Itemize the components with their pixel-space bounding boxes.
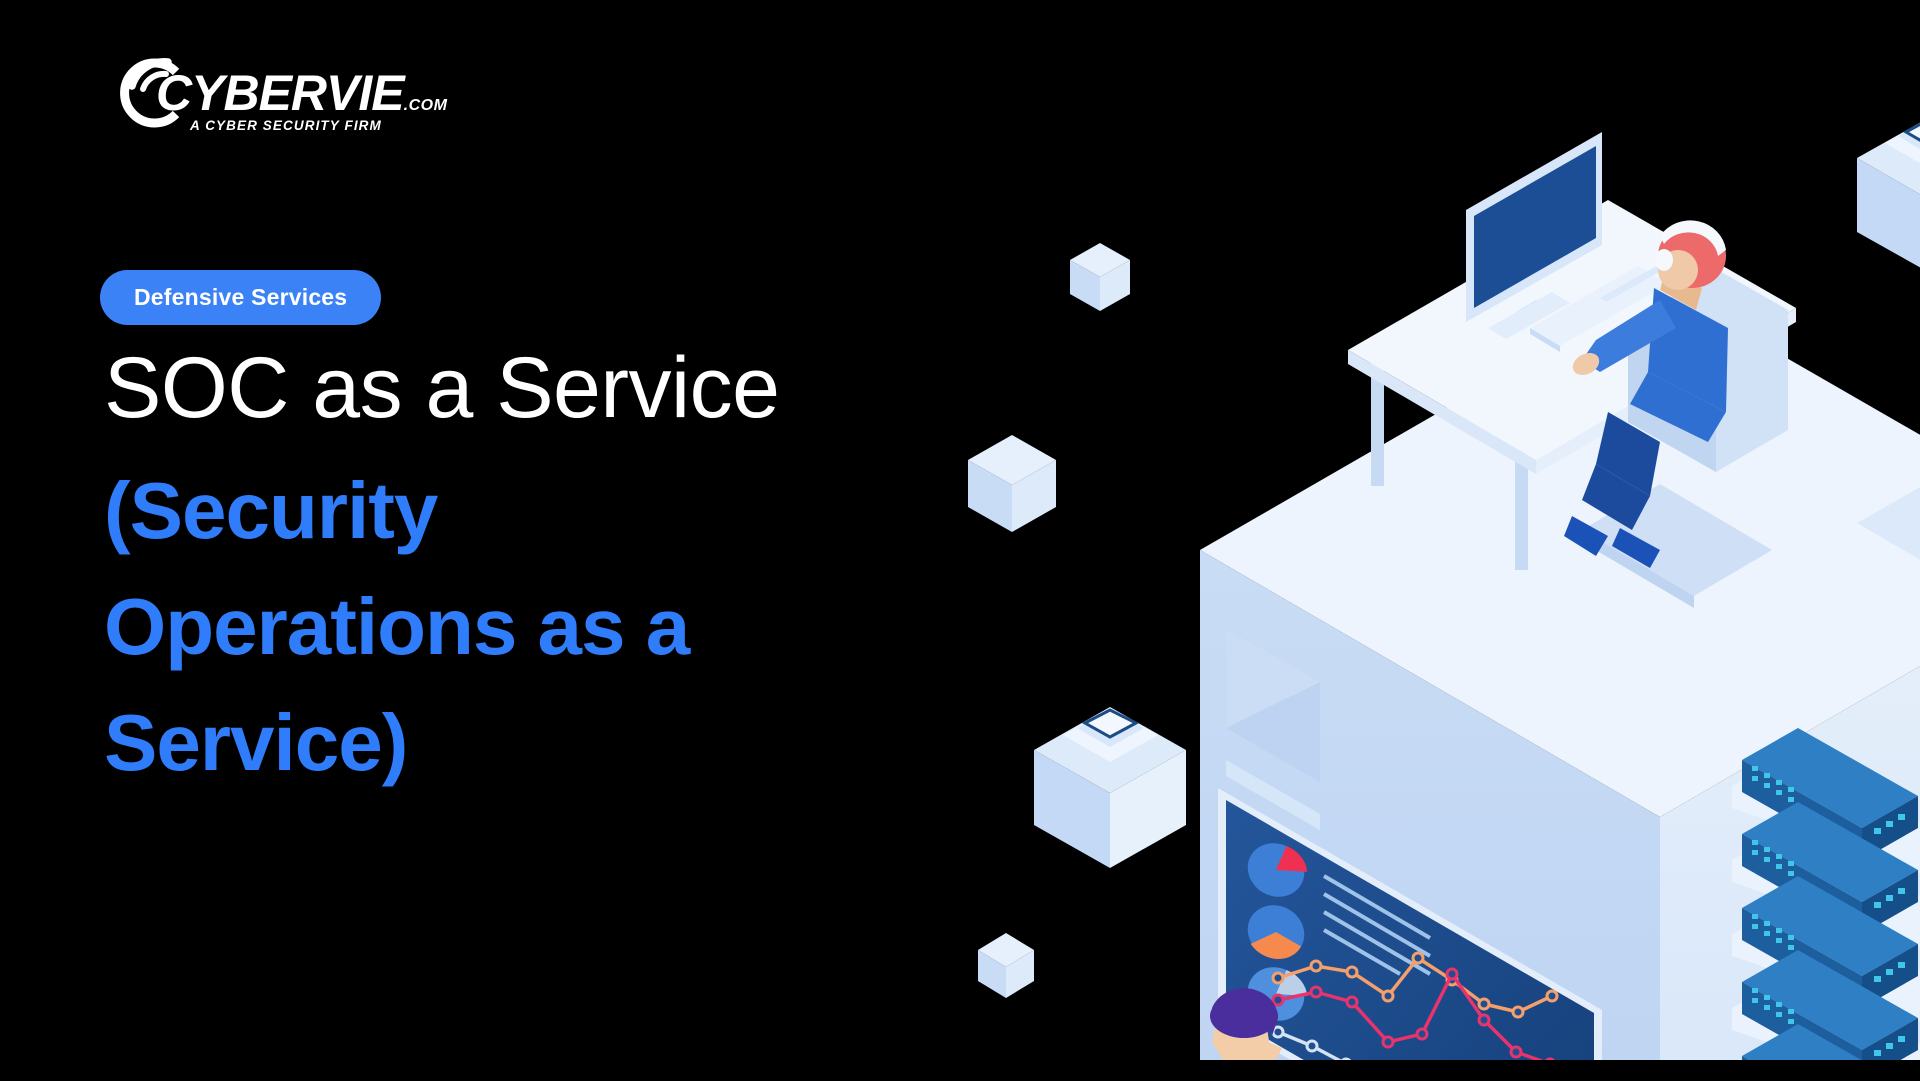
headline-line-1: SOC as a Service bbox=[104, 345, 1024, 431]
headset-earcup bbox=[1655, 249, 1673, 271]
floating-chip-cube-2 bbox=[1034, 707, 1186, 868]
page-title: SOC as a Service (Security Operations as… bbox=[104, 345, 1024, 801]
hero-banner: CYBERVIE.COM A CYBER SECURITY FIRM Defen… bbox=[0, 0, 1920, 1081]
logo-tld-text: .COM bbox=[404, 97, 448, 114]
floating-cube-small-1 bbox=[1070, 243, 1130, 311]
headline-line-3: Operations as a bbox=[104, 569, 1024, 685]
logo-tagline: A CYBER SECURITY FIRM bbox=[190, 118, 382, 133]
defensive-services-badge[interactable]: Defensive Services bbox=[100, 270, 381, 325]
floating-cube-small-3 bbox=[978, 933, 1034, 998]
headline-line-4: Service) bbox=[104, 685, 1024, 801]
logo-wordmark: CYBERVIE.COM bbox=[156, 68, 447, 118]
badge-label: Defensive Services bbox=[134, 284, 347, 311]
cybervie-logo[interactable]: CYBERVIE.COM A CYBER SECURITY FIRM bbox=[118, 48, 408, 148]
headline-line-2: (Security bbox=[104, 453, 1024, 569]
logo-word-text: CYBERVIE bbox=[156, 65, 404, 121]
isometric-soc-illustration bbox=[960, 60, 1920, 1060]
floating-chip-cube-1 bbox=[1857, 117, 1920, 273]
floating-cube-small-2 bbox=[968, 435, 1056, 532]
